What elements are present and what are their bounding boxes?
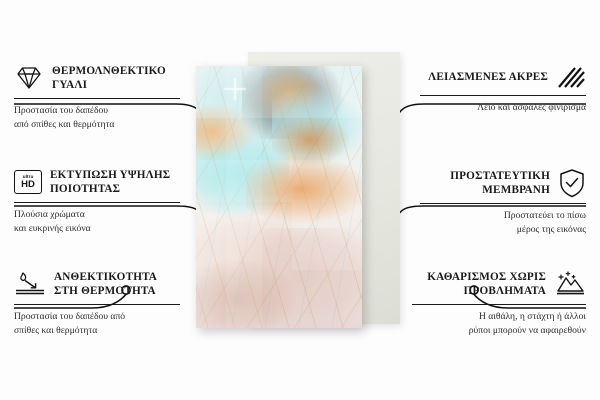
- glass-glint-icon: [224, 78, 246, 100]
- feature-divider: [14, 98, 180, 99]
- feature-easy-cleaning: ΚΑΘΑΡΙΣΜΟΣ ΧΩΡΙΣ ΠΡΟΒΛΗΜΑΤΑ Η αιθάλη, η …: [412, 270, 586, 337]
- product-image: [186, 58, 414, 348]
- feature-title: ΘΕΡΜΟΛΝΘΕΚΤΙΚΟ ΓΥΑΛΙ: [52, 64, 180, 93]
- product-glass-panel: [196, 66, 362, 328]
- feature-heat-durability: ΑΝΘΕΚΤΙΚΟΤΗΤΑ ΣΤΗ ΘΕΡΜΟΤΗΤΑ Προστασία το…: [14, 270, 180, 337]
- feature-divider: [14, 202, 180, 203]
- feature-title: ΕΚΤΥΠΩΣΗ ΥΨΗΛΗΣ ΠΟΙΟΤΗΤΑΣ: [50, 168, 180, 197]
- product-artwork: [196, 66, 362, 328]
- hatched-edge-icon: [556, 64, 586, 90]
- feature-divider: [420, 203, 586, 204]
- feature-divider: [412, 304, 586, 305]
- feature-body: Πλούσια χρώματα και ευκρινής εικόνα: [14, 208, 180, 235]
- feature-body: Η αιθάλη, η στάχτη ή άλλοι ρύποι μπορούν…: [412, 310, 586, 337]
- feature-body: Προστασία του δαπέδου από σπίθες και θερ…: [14, 310, 180, 337]
- diamond-icon: [14, 65, 44, 91]
- feature-body: Προστατεύει το πίσω μέρος της εικόνας: [420, 209, 586, 236]
- feature-title: ΑΝΘΕΚΤΙΚΟΤΗΤΑ ΣΤΗ ΘΕΡΜΟΤΗΤΑ: [54, 270, 180, 299]
- feature-divider: [420, 95, 586, 96]
- feature-high-quality-print: ultra HD ΕΚΤΥΠΩΣΗ ΥΨΗΛΗΣ ΠΟΙΟΤΗΤΑΣ Πλούσ…: [14, 168, 180, 235]
- infographic-canvas: ΘΕΡΜΟΛΝΘΕΚΤΙΚΟ ΓΥΑΛΙ Προστασία του δαπέδ…: [0, 0, 600, 400]
- feature-title: ΠΡΟΣΤΑΤΕΥΤΙΚΗ ΜΕΜΒΡΑΝΗ: [420, 169, 550, 198]
- feature-heat-resistant-glass: ΘΕΡΜΟΛΝΘΕΚΤΙΚΟ ΓΥΑΛΙ Προστασία του δαπέδ…: [14, 64, 180, 131]
- feature-title: ΚΑΘΑΡΙΣΜΟΣ ΧΩΡΙΣ ΠΡΟΒΛΗΜΑΤΑ: [412, 270, 546, 299]
- shield-check-icon: [558, 168, 586, 198]
- flame-deflect-icon: [14, 270, 46, 298]
- feature-polished-edges: ΛΕΙΑΣΜΕΝΕΣ ΑΚΡΕΣ Λείο και ασφαλές φινίρι…: [420, 64, 586, 115]
- feature-title: ΛΕΙΑΣΜΕΝΕΣ ΑΚΡΕΣ: [428, 70, 548, 84]
- feature-protective-membrane: ΠΡΟΣΤΑΤΕΥΤΙΚΗ ΜΕΜΒΡΑΝΗ Προστατεύει το πί…: [420, 168, 586, 237]
- feature-divider: [14, 304, 180, 305]
- ultra-hd-bottom-label: HD: [21, 180, 35, 190]
- ultra-hd-icon: ultra HD: [14, 170, 42, 194]
- feature-body: Προστασία του δαπέδου από σπίθες και θερ…: [14, 104, 180, 131]
- feature-body: Λείο και ασφαλές φινίρισμα: [420, 101, 586, 115]
- sparkle-wipe-icon: [554, 270, 586, 298]
